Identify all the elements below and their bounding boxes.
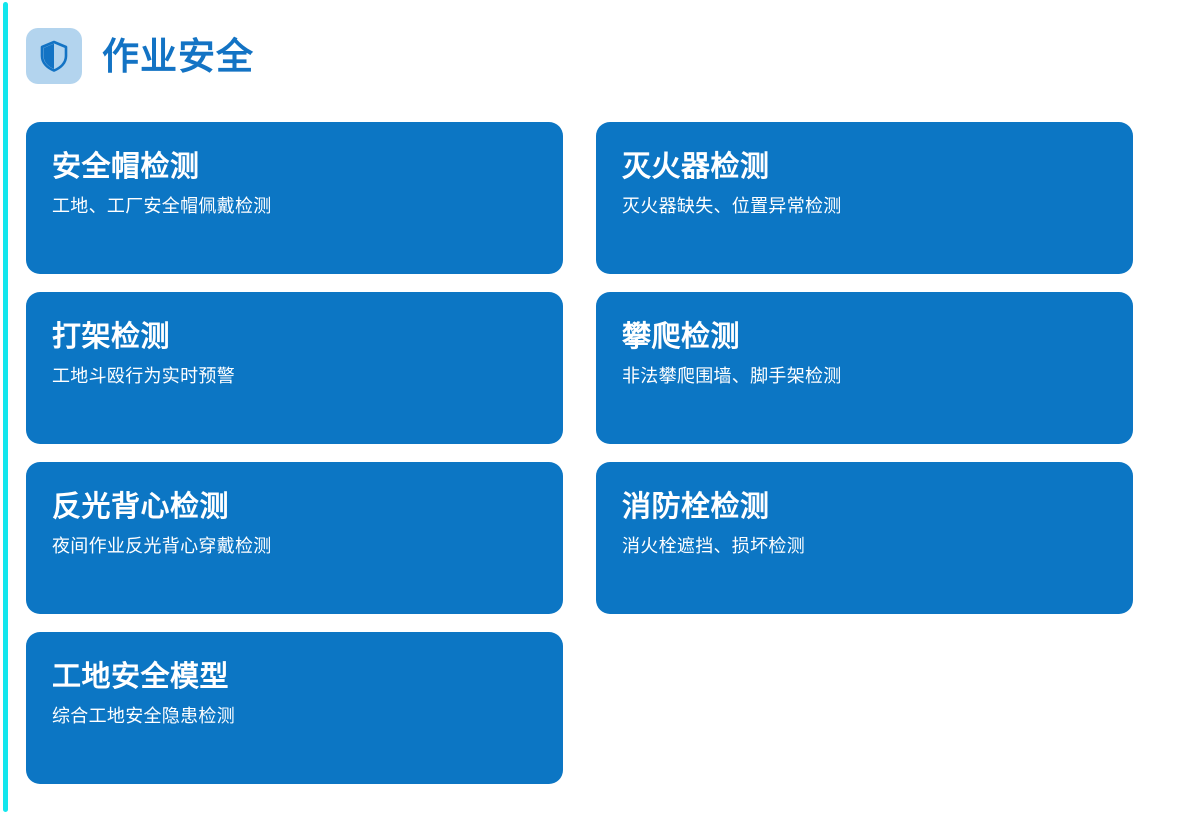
- model-card-title: 灭火器检测: [622, 152, 1107, 182]
- page-title: 作业安全: [102, 38, 254, 75]
- model-card-description: 夜间作业反光背心穿戴检测: [52, 536, 537, 558]
- model-card-climbing-detection[interactable]: 攀爬检测 非法攀爬围墙、脚手架检测: [596, 292, 1133, 444]
- model-card-title: 反光背心检测: [52, 492, 537, 522]
- model-card-title: 攀爬检测: [622, 322, 1107, 352]
- section-header: 作业安全: [26, 24, 254, 88]
- model-card-construction-site-safety[interactable]: 工地安全模型 综合工地安全隐患检测: [26, 632, 563, 784]
- shield-icon-container: [26, 28, 82, 84]
- model-card-description: 工地、工厂安全帽佩戴检测: [52, 196, 537, 218]
- model-card-description: 综合工地安全隐患检测: [52, 706, 537, 728]
- model-card-description: 灭火器缺失、位置异常检测: [622, 196, 1107, 218]
- shield-icon: [39, 40, 69, 72]
- model-card-fire-extinguisher[interactable]: 灭火器检测 灭火器缺失、位置异常检测: [596, 122, 1133, 274]
- model-card-fight-detection[interactable]: 打架检测 工地斗殴行为实时预警: [26, 292, 563, 444]
- model-card-safety-helmet[interactable]: 安全帽检测 工地、工厂安全帽佩戴检测: [26, 122, 563, 274]
- model-card-title: 工地安全模型: [52, 662, 537, 692]
- model-card-grid: 安全帽检测 工地、工厂安全帽佩戴检测 灭火器检测 灭火器缺失、位置异常检测 打架…: [26, 122, 1133, 784]
- model-card-title: 打架检测: [52, 322, 537, 352]
- model-card-description: 消火栓遮挡、损坏检测: [622, 536, 1107, 558]
- model-card-title: 消防栓检测: [622, 492, 1107, 522]
- safety-category-panel: 作业安全 安全帽检测 工地、工厂安全帽佩戴检测 灭火器检测 灭火器缺失、位置异常…: [0, 0, 1189, 822]
- model-card-description: 非法攀爬围墙、脚手架检测: [622, 366, 1107, 388]
- model-card-reflective-vest[interactable]: 反光背心检测 夜间作业反光背心穿戴检测: [26, 462, 563, 614]
- model-card-description: 工地斗殴行为实时预警: [52, 366, 537, 388]
- left-accent-bar: [3, 2, 8, 812]
- model-card-title: 安全帽检测: [52, 152, 537, 182]
- model-card-fire-hydrant[interactable]: 消防栓检测 消火栓遮挡、损坏检测: [596, 462, 1133, 614]
